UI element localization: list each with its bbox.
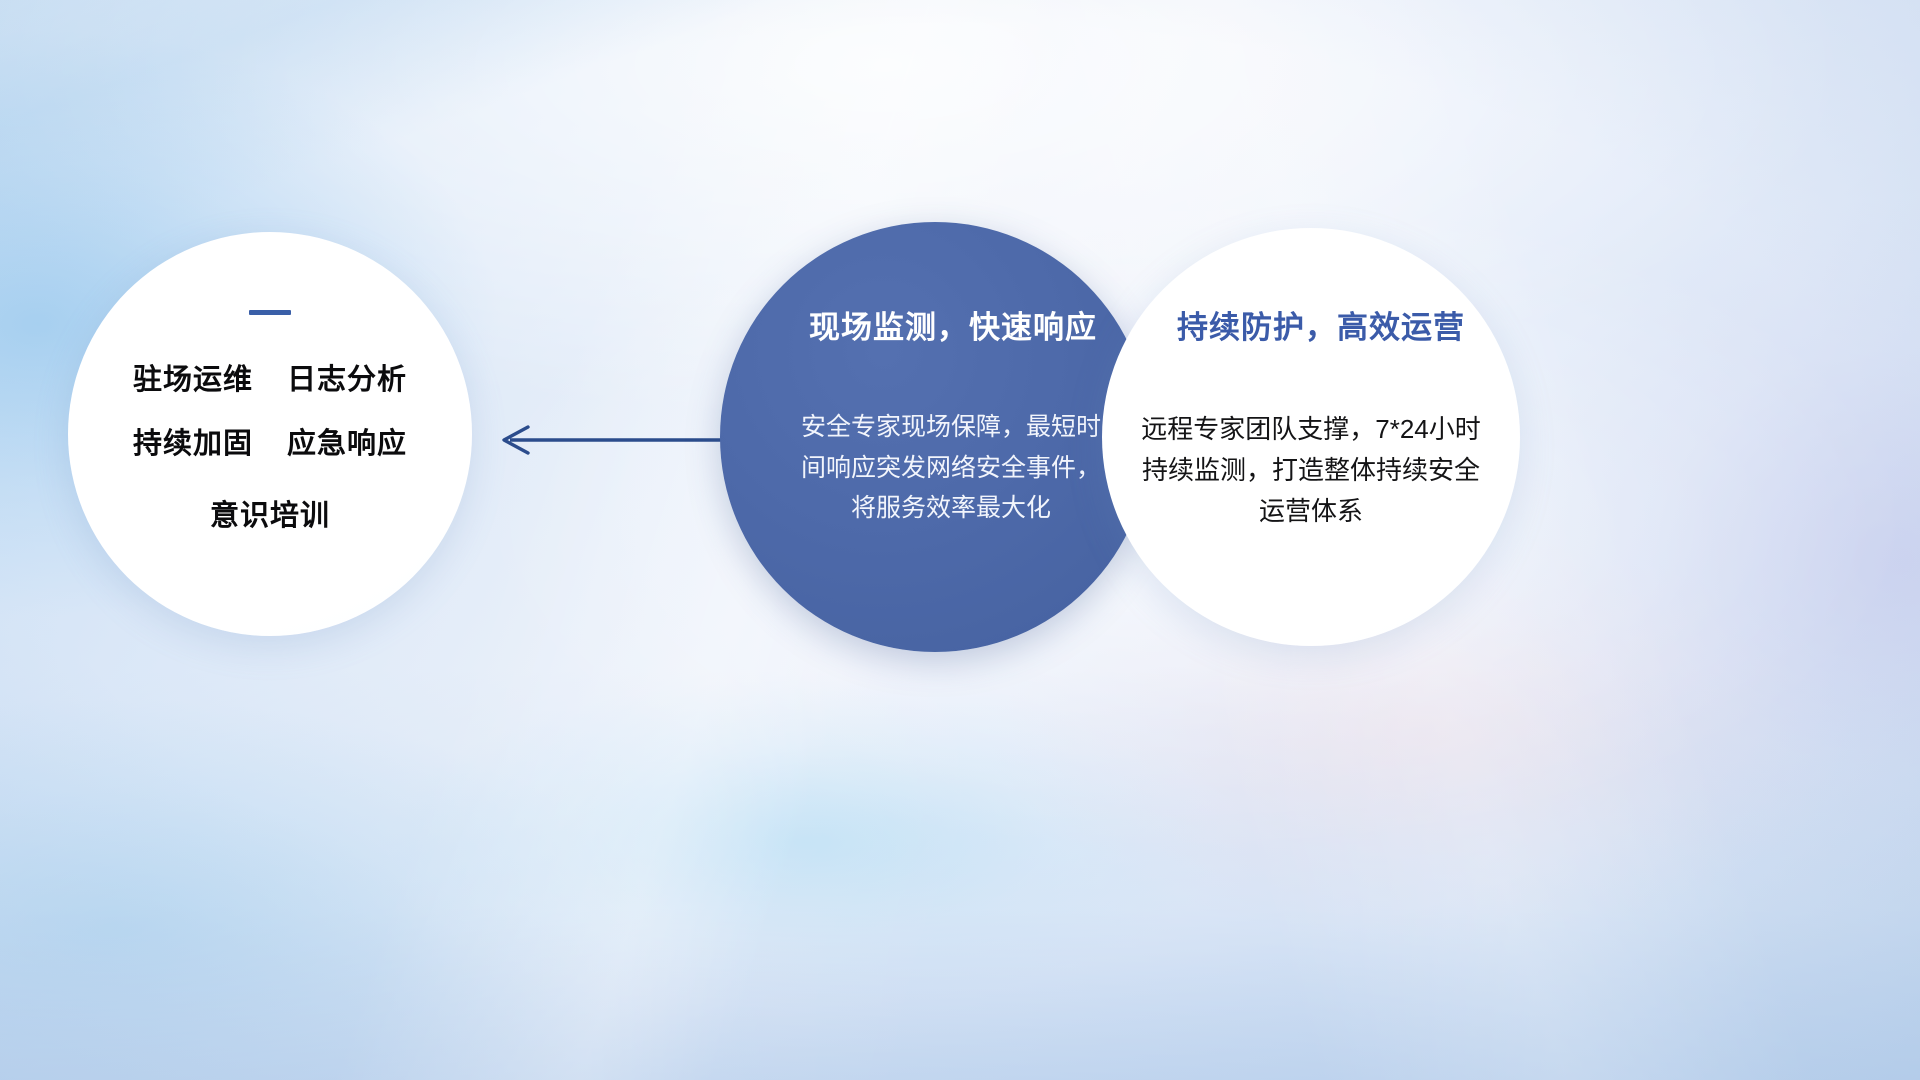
left-circle-content: 驻场运维 日志分析 持续加固 应急响应 意识培训: [68, 232, 472, 533]
left-circle-tag: 驻场运维: [133, 365, 253, 397]
center-circle-content: 现场监测，快速响应 安全专家现场保障，最短时间响应突发网络安全事件，将服务效率最…: [720, 222, 1150, 529]
left-circle-tag: 意识培训: [210, 501, 330, 533]
center-circle-body: 安全专家现场保障，最短时间响应突发网络安全事件，将服务效率最大化: [799, 407, 1104, 529]
divider-dash-icon: [249, 310, 291, 315]
center-circle-title: 现场监测，快速响应: [809, 302, 1097, 347]
flow-arrow-icon: [488, 404, 728, 476]
left-circle-tag: 应急响应: [287, 429, 407, 461]
left-circle-tag: 日志分析: [287, 365, 407, 397]
right-circle-title: 持续防护，高效运营: [1177, 302, 1465, 347]
right-circle-card: 持续防护，高效运营 远程专家团队支撑，7*24小时持续监测，打造整体持续安全运营…: [1102, 228, 1520, 646]
right-circle-body: 远程专家团队支撑，7*24小时持续监测，打造整体持续安全运营体系: [1135, 409, 1487, 532]
left-circle-tag-row: 意识培训: [210, 501, 330, 533]
right-circle-content: 持续防护，高效运营 远程专家团队支撑，7*24小时持续监测，打造整体持续安全运营…: [1102, 228, 1520, 532]
center-circle-card: 现场监测，快速响应 安全专家现场保障，最短时间响应突发网络安全事件，将服务效率最…: [720, 222, 1150, 652]
left-circle-card: 驻场运维 日志分析 持续加固 应急响应 意识培训: [68, 232, 472, 636]
slide-canvas: 现场监测，快速响应 安全专家现场保障，最短时间响应突发网络安全事件，将服务效率最…: [0, 0, 1920, 1080]
left-circle-tag: 持续加固: [133, 429, 253, 461]
left-circle-tag-row: 驻场运维 日志分析: [133, 365, 407, 397]
left-circle-tag-row: 持续加固 应急响应: [133, 429, 407, 461]
